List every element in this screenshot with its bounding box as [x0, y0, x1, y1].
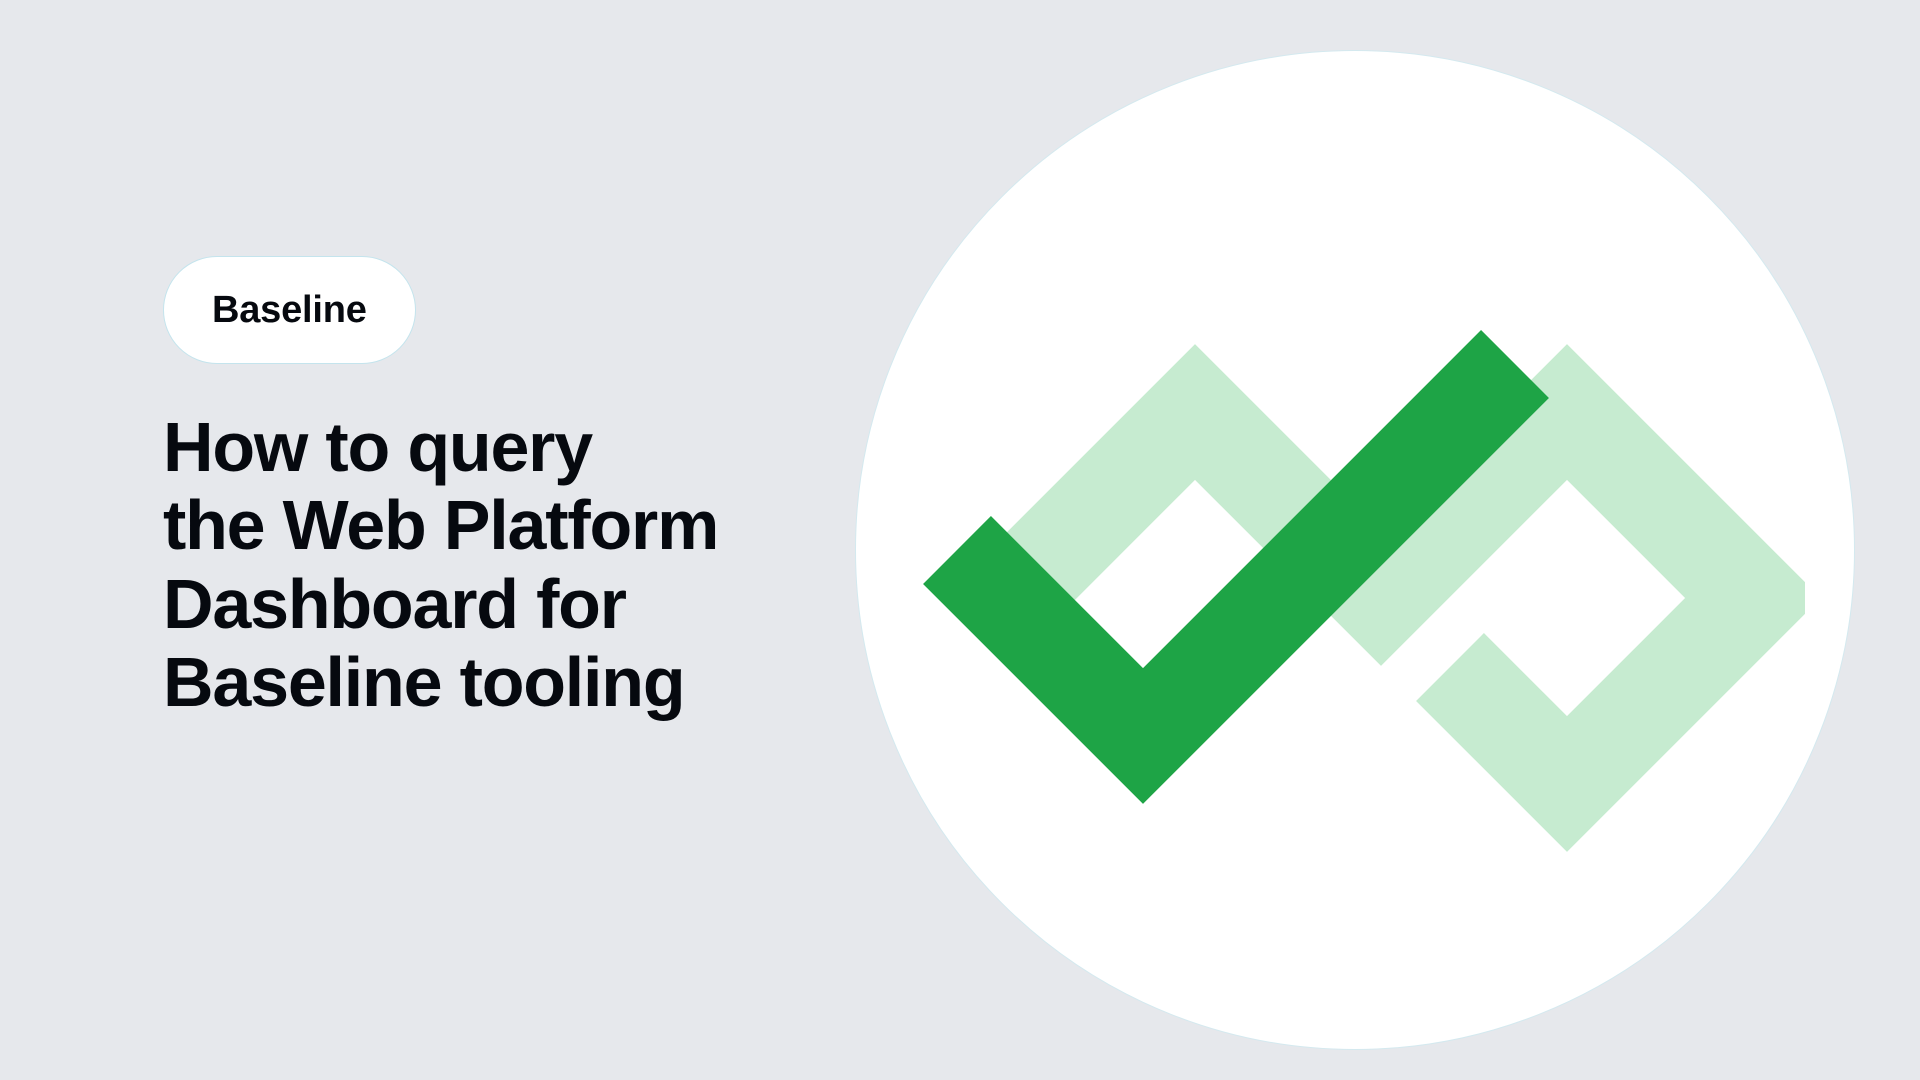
baseline-badge[interactable]: Baseline	[163, 256, 416, 364]
baseline-logo-icon	[905, 100, 1805, 1000]
text-column: Baseline How to query the Web Platform D…	[163, 256, 863, 722]
heading-line-2: the Web Platform	[163, 486, 823, 564]
baseline-logo-circle	[855, 50, 1855, 1050]
page-title: How to query the Web Platform Dashboard …	[163, 408, 823, 722]
baseline-badge-label: Baseline	[212, 291, 367, 329]
heading-line-3: Dashboard for	[163, 565, 823, 643]
hero-card: Baseline How to query the Web Platform D…	[0, 0, 1920, 1080]
heading-line-4: Baseline tooling	[163, 643, 823, 721]
heading-line-1: How to query	[163, 408, 823, 486]
